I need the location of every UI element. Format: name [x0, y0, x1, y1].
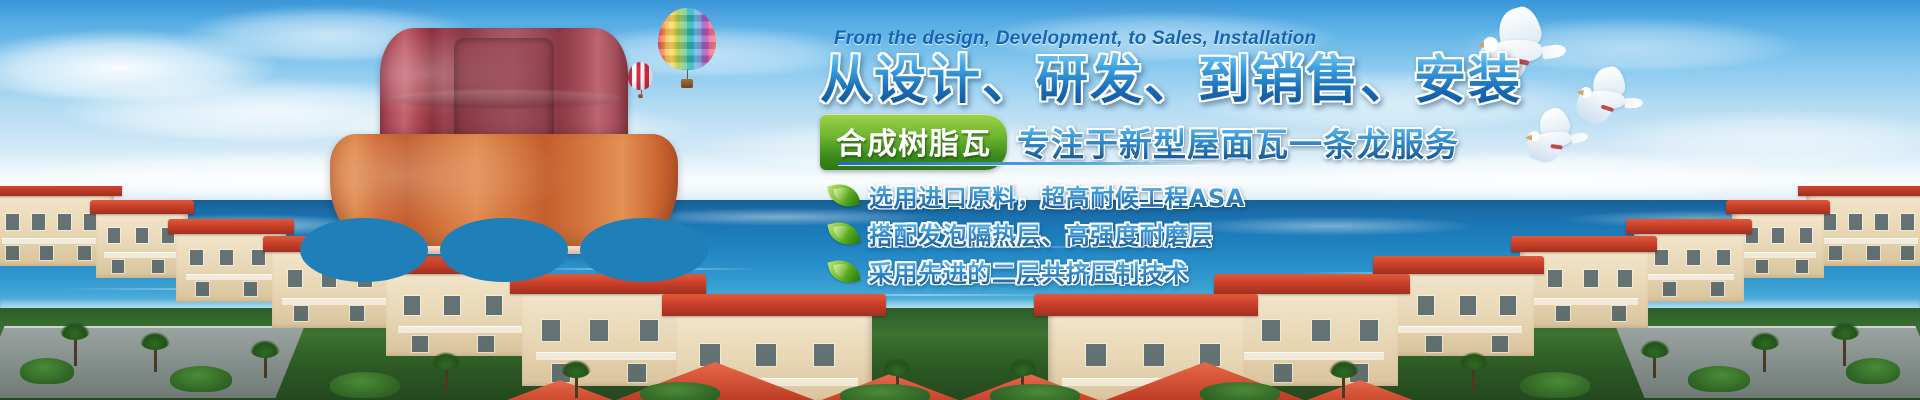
feature-bullet-list: 选用进口原料，超高耐候工程ASA 搭配发泡隔热层、高强度耐磨层 采用先进的二层共…	[830, 176, 1245, 290]
list-item: 搭配发泡隔热层、高强度耐磨层	[830, 214, 1245, 252]
bullet-label: 采用先进的二层共挤压制技术	[869, 254, 1189, 289]
leaf-icon	[827, 217, 860, 248]
banner-copy: From the design, Development, to Sales, …	[820, 18, 1880, 318]
list-item: 选用进口原料，超高耐候工程ASA	[830, 176, 1245, 214]
promotional-banner: From the design, Development, to Sales, …	[0, 0, 1920, 400]
list-item: 采用先进的二层共挤压制技术	[830, 252, 1245, 290]
bullet-label: 选用进口原料，超高耐候工程ASA	[869, 178, 1245, 213]
resin-roof-tile-product-image	[318, 12, 690, 244]
english-tagline: From the design, Development, to Sales, …	[834, 28, 1316, 50]
headline: 从设计、研发、到销售、安装	[820, 52, 1522, 110]
leaf-icon	[827, 255, 860, 286]
subline: 合成树脂瓦专注于新型屋面瓦一条龙服务	[820, 114, 1459, 160]
subtitle: 专注于新型屋面瓦一条龙服务	[1017, 118, 1459, 166]
divider-rule	[838, 162, 1206, 165]
leaf-icon	[827, 179, 860, 210]
bullet-label: 搭配发泡隔热层、高强度耐磨层	[869, 216, 1213, 251]
